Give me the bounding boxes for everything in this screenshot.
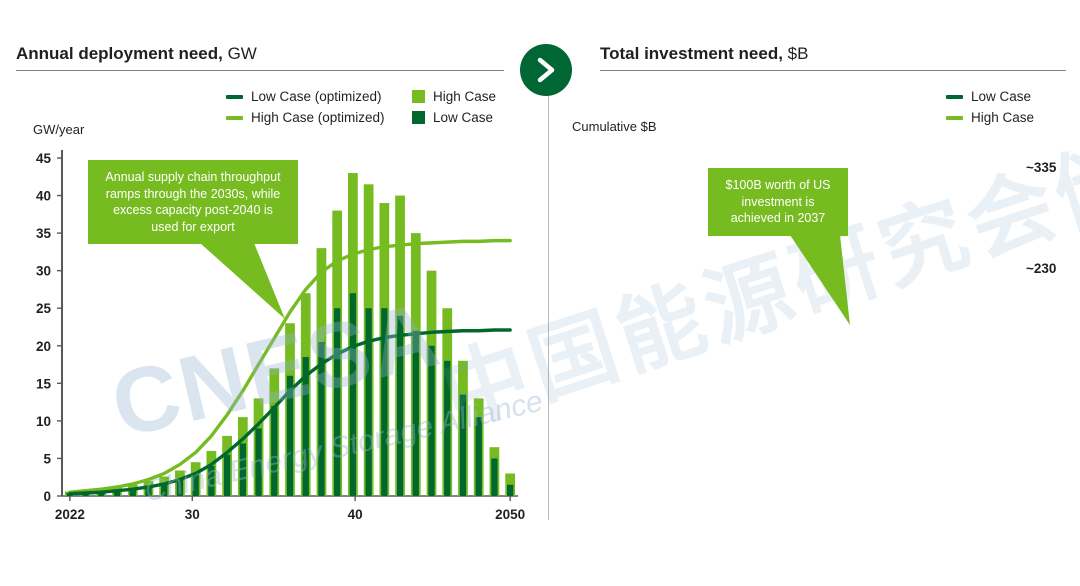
bar-low-case [413,331,419,496]
left-callout-tail-icon [88,243,298,321]
left-y-tick-label: 15 [36,376,52,391]
bar-low-case [350,293,356,496]
left-x-tick-label: 30 [185,507,200,522]
bar-low-case [428,346,434,496]
left-y-tick-label: 10 [36,414,51,429]
left-y-tick-label: 20 [36,339,51,354]
bar-low-case [444,361,450,496]
left-y-tick-label: 5 [43,451,51,466]
bar-low-case [193,473,199,496]
bar-low-case [255,428,261,496]
bar-low-case [334,308,340,496]
left-y-tick-label: 30 [36,264,51,279]
bar-low-case [177,479,183,496]
right-callout-tail-icon [708,235,898,327]
bar-low-case [224,455,230,496]
bar-low-case [397,316,403,496]
bar-low-case [476,417,482,496]
left-y-tick-label: 45 [36,151,52,166]
bar-low-case [491,458,497,496]
bar-low-case [507,485,513,496]
slide-root: 中国能源研究会储能专委会 中关村储能产业技术联盟 CNESA China Ene… [0,0,1080,586]
left-y-tick-label: 40 [36,189,51,204]
left-y-tick-label: 25 [36,301,52,316]
end-label-high-case: ~335 [1026,160,1056,175]
bar-low-case [460,395,466,496]
bar-low-case [240,443,246,496]
left-callout-text: Annual supply chain throughput ramps thr… [88,160,298,244]
right-chart-callout: $100B worth of US investment is achieved… [708,168,848,327]
panel-total-investment: Total investment need, $B Low Case High … [540,0,1080,586]
chevron-right-icon [534,56,560,84]
left-chart-callout: Annual supply chain throughput ramps thr… [88,160,298,321]
left-y-tick-label: 35 [36,226,52,241]
right-callout-text: $100B worth of US investment is achieved… [708,168,848,236]
left-x-tick-label: 2022 [55,507,85,522]
bar-low-case [208,466,214,496]
left-y-tick-label: 0 [43,489,51,504]
panel-annual-deployment: Annual deployment need, GW Low Case (opt… [0,0,540,586]
end-label-low-case: ~230 [1026,261,1056,276]
bar-low-case [271,406,277,496]
bar-low-case [365,308,371,496]
left-x-tick-label: 2050 [495,507,525,522]
next-step-arrow-badge[interactable] [520,44,572,96]
left-x-tick-label: 40 [348,507,363,522]
